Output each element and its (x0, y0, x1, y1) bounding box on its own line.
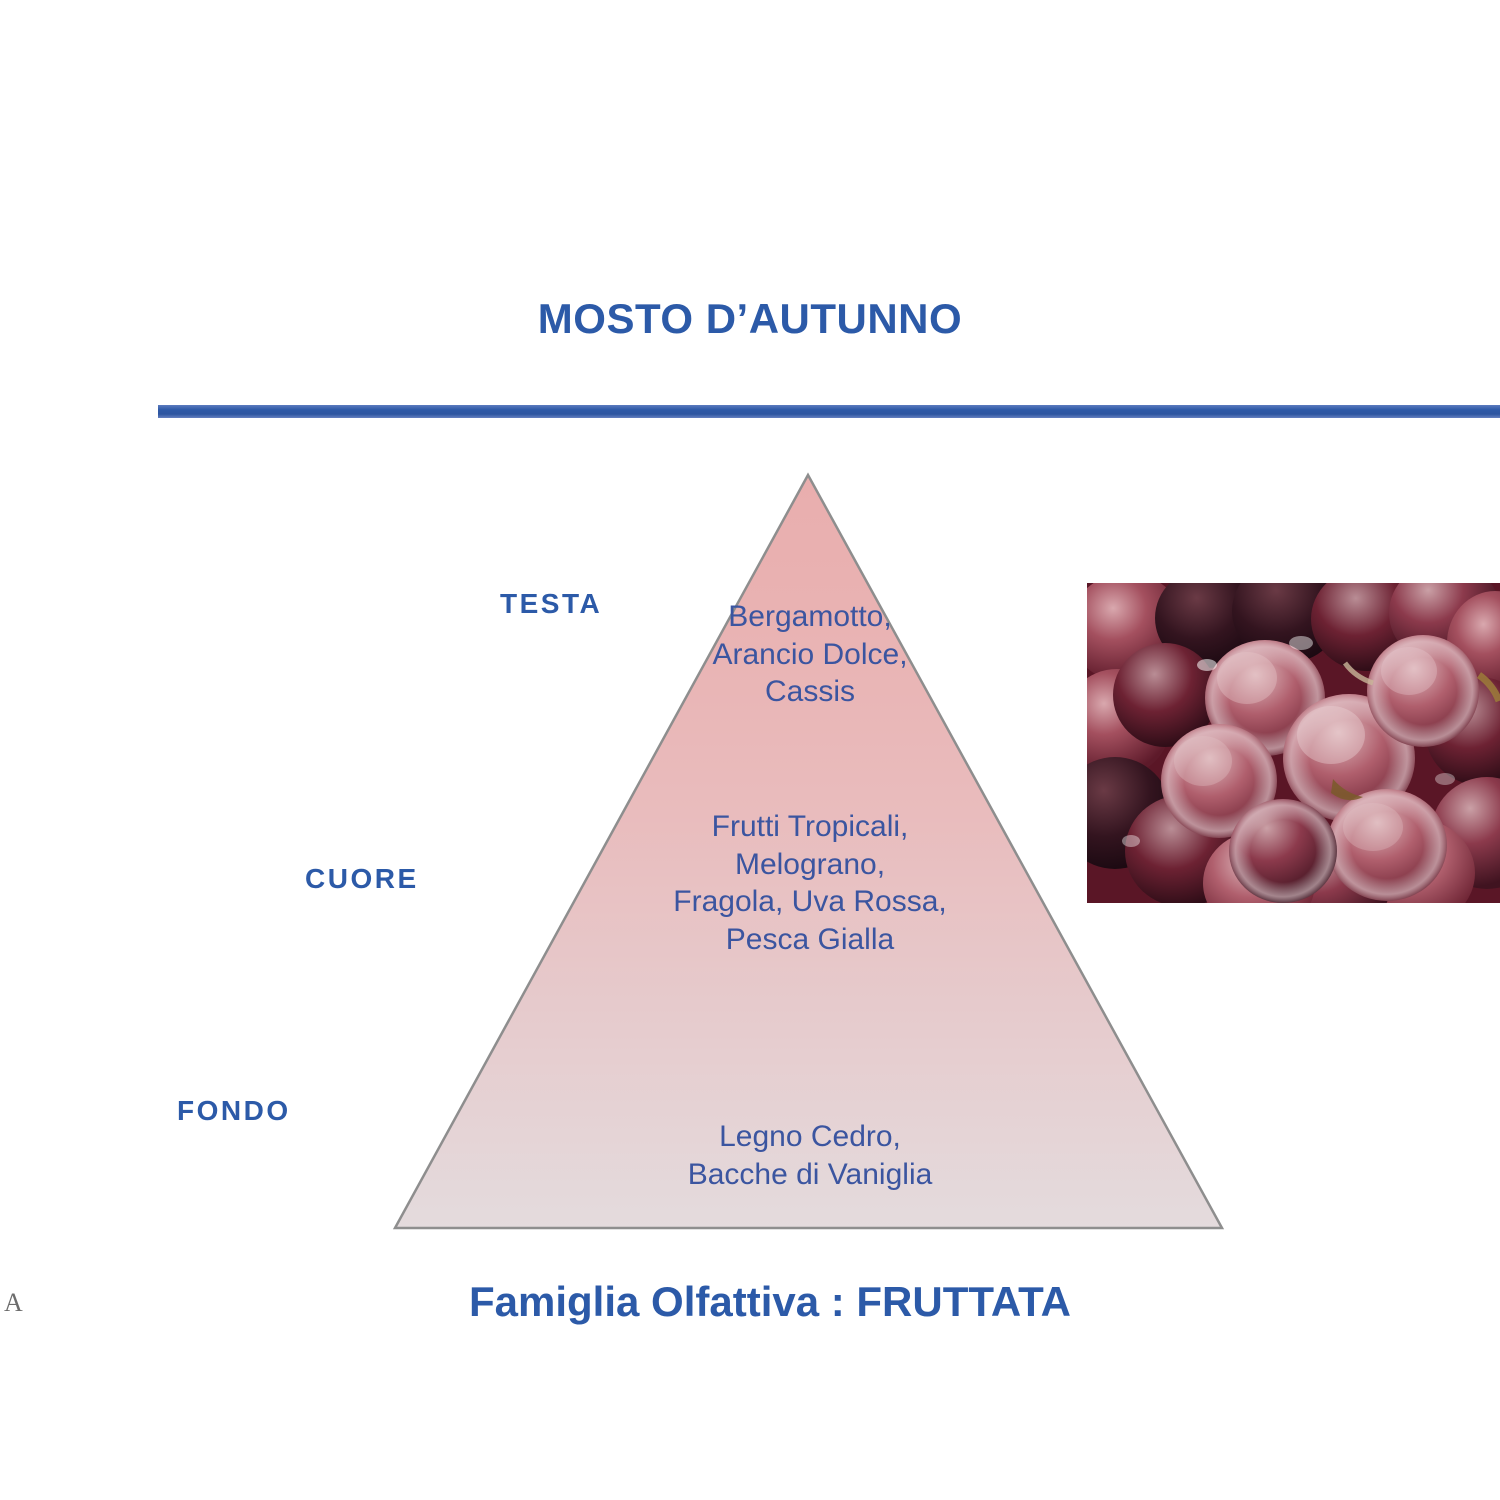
title-divider-rule (158, 405, 1500, 418)
heart-notes-text: Frutti Tropicali, Melograno, Fragola, Uv… (590, 808, 1030, 958)
page-mark: A (4, 1288, 23, 1318)
page-title: MOSTO D’AUTUNNO (0, 295, 1500, 343)
stage-label-cuore: CUORE (305, 863, 419, 895)
stage-label-fondo: FONDO (177, 1095, 291, 1127)
top-notes-text: Bergamotto, Arancio Dolce, Cassis (610, 598, 1010, 711)
stage-label-testa: TESTA (500, 588, 602, 620)
base-notes-text: Legno Cedro, Bacche di Vaniglia (600, 1118, 1020, 1193)
slide-canvas: MOSTO D’AUTUNNO Bergamotto, Arancio Dolc… (0, 0, 1500, 1500)
grapes-illustration (1087, 583, 1500, 903)
olfactory-family-caption: Famiglia Olfattiva : FRUTTATA (0, 1278, 1500, 1326)
grapes-photo (1087, 583, 1500, 903)
